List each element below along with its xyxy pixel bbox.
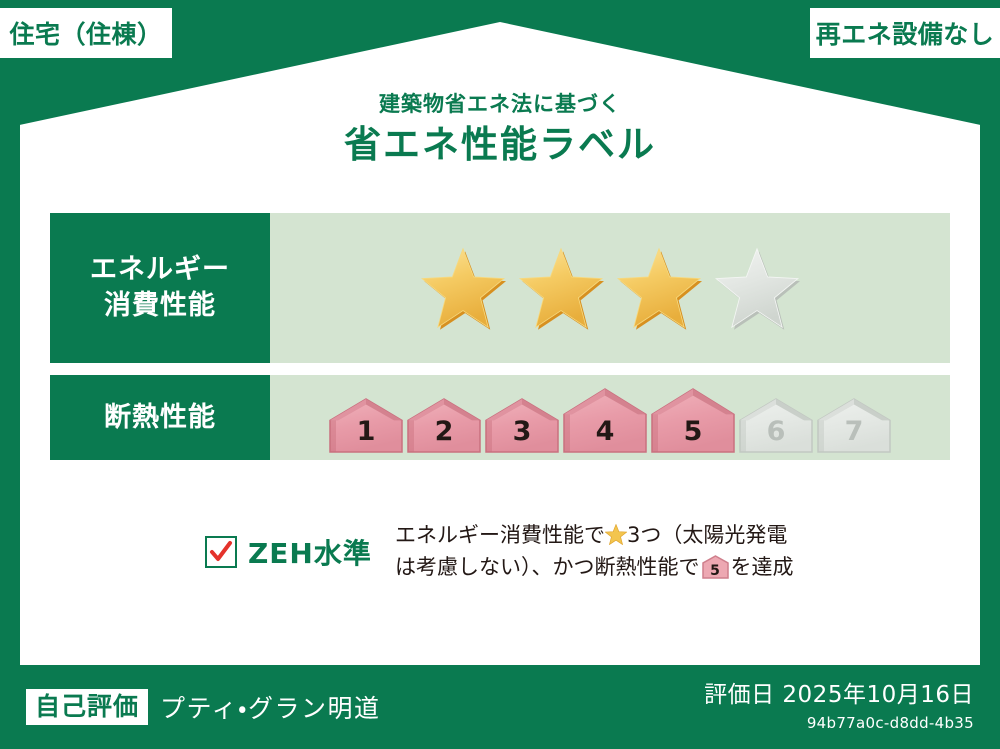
insulation-level-7: 7: [816, 398, 892, 454]
star-filled: [417, 244, 509, 332]
zeh-label: ZEH水準: [248, 532, 372, 572]
star-filled: [515, 244, 607, 332]
insulation-performance-label: 断熱性能: [50, 375, 270, 460]
insulation-level-number: 7: [816, 418, 892, 445]
zeh-desc-part3: を達成: [731, 555, 794, 579]
evaluation-date: 評価日 2025年10月16日: [704, 682, 974, 710]
energy-performance-label-line2: 消費性能: [104, 288, 216, 324]
insulation-performance-row: 断熱性能 1 2 3: [50, 375, 950, 460]
zeh-description: エネルギー消費性能で3つ（太陽光発電は考慮しない）、かつ断熱性能で5を達成: [395, 520, 950, 584]
star-shape: [613, 244, 705, 332]
evaluation-type-badge: 自己評価: [26, 689, 148, 725]
building-name: プティ・グラン明道: [160, 689, 381, 725]
zeh-desc-star-count: 3つ（太陽光発電: [627, 523, 787, 547]
insulation-level-4: 4: [562, 388, 648, 454]
inline-house-number: 5: [702, 564, 729, 578]
zeh-mark: ZEH水準: [50, 532, 395, 572]
star-rating: [417, 244, 803, 332]
star-filled: [613, 244, 705, 332]
insulation-level-number: 4: [562, 418, 648, 445]
insulation-level-number: 1: [328, 418, 404, 445]
insulation-level-scale: 1 2 3 4: [328, 375, 892, 460]
insulation-performance-label-text: 断熱性能: [104, 400, 216, 436]
insulation-level-number: 6: [738, 418, 814, 445]
insulation-level-6: 6: [738, 398, 814, 454]
insulation-level-2: 2: [406, 398, 482, 454]
insulation-level-number: 5: [650, 418, 736, 445]
energy-performance-label-line1: エネルギー: [90, 252, 230, 288]
zeh-desc-part2: は考慮しない）、かつ断熱性能で: [395, 555, 700, 579]
inline-star-icon: [605, 523, 627, 544]
footer: 自己評価 プティ・グラン明道 評価日 2025年10月16日 94b77a0c-…: [0, 665, 1000, 749]
evaluation-id: 94b77a0c-d8dd-4b35: [704, 714, 974, 732]
renewable-energy-badge-label: 再エネ設備なし: [816, 15, 995, 51]
energy-performance-label: エネルギー 消費性能: [50, 213, 270, 363]
insulation-level-number: 2: [406, 418, 482, 445]
energy-performance-row: エネルギー 消費性能: [50, 213, 950, 363]
zeh-checkbox[interactable]: [205, 536, 237, 568]
star-shape: [711, 244, 803, 332]
title-block: 建築物省エネ法に基づく 省エネ性能ラベル: [0, 92, 1000, 169]
building-type-badge-label: 住宅（住棟）: [9, 15, 162, 51]
energy-performance-value: [270, 213, 950, 363]
page-title: 省エネ性能ラベル: [0, 121, 1000, 169]
insulation-level-3: 3: [484, 398, 560, 454]
footer-left: 自己評価 プティ・グラン明道: [0, 689, 704, 725]
zeh-desc-part1: エネルギー消費性能で: [395, 523, 605, 547]
star-shape: [515, 244, 607, 332]
star-empty: [711, 244, 803, 332]
insulation-performance-value: 1 2 3 4: [270, 375, 950, 460]
check-icon: [209, 540, 233, 564]
building-type-badge: 住宅（住棟）: [0, 8, 172, 58]
renewable-energy-badge: 再エネ設備なし: [810, 8, 1000, 58]
footer-right: 評価日 2025年10月16日 94b77a0c-d8dd-4b35: [704, 682, 1000, 732]
insulation-level-5: 5: [650, 388, 736, 454]
insulation-level-1: 1: [328, 398, 404, 454]
star-shape: [417, 244, 509, 332]
insulation-level-number: 3: [484, 418, 560, 445]
title-subtitle: 建築物省エネ法に基づく: [0, 92, 1000, 117]
zeh-standard-block: ZEH水準 エネルギー消費性能で3つ（太陽光発電は考慮しない）、かつ断熱性能で5…: [50, 520, 950, 584]
inline-house-badge: 5: [702, 555, 729, 579]
